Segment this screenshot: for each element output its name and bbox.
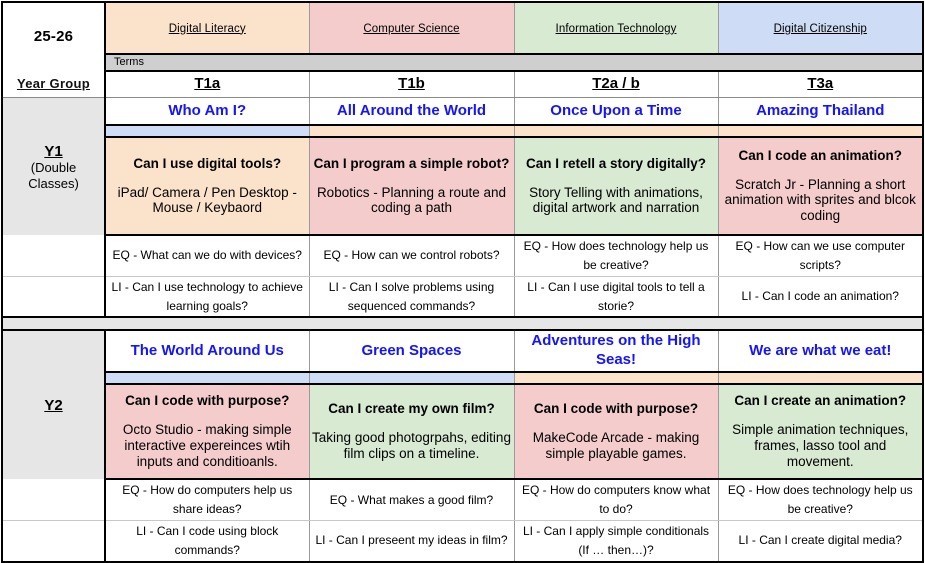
y2-content-row: Can I code with purpose? Octo Studio - m… xyxy=(2,384,923,479)
li-text: LI - Can I apply simple conditionals (If… xyxy=(523,524,709,557)
unit-title-cell: Green Spaces xyxy=(309,330,514,372)
unit-body: Story Telling with animations, digital a… xyxy=(517,185,716,217)
eq-text: EQ - How does technology help us be crea… xyxy=(524,239,709,272)
unit-title: We are what we eat! xyxy=(749,342,891,359)
strand-strip xyxy=(718,372,923,384)
term-cell-t1a: T1a xyxy=(105,71,309,98)
y1-eq-row: EQ - What can we do with devices? EQ - H… xyxy=(2,235,923,276)
unit-title: Amazing Thailand xyxy=(756,102,884,119)
unit-title: Who Am I? xyxy=(168,102,246,119)
y1-unit-title-row: Y1 (Double Classes) Who Am I? All Around… xyxy=(2,98,923,125)
li-cell: LI - Can I use digital tools to tell a s… xyxy=(514,276,718,317)
unit-question: Can I create my own film? xyxy=(312,401,512,417)
unit-body: MakeCode Arcade - making simple playable… xyxy=(517,430,716,462)
unit-title: Green Spaces xyxy=(361,342,461,359)
unit-content-cell: Can I code with purpose? MakeCode Arcade… xyxy=(514,384,718,479)
unit-question: Can I code an animation? xyxy=(721,148,921,164)
strand-header-digital-citizenship: Digital Citizenship xyxy=(718,2,923,54)
unit-title-cell: Once Upon a Time xyxy=(514,98,718,125)
unit-question: Can I use digital tools? xyxy=(108,156,307,172)
eq-text: EQ - How do computers help us share idea… xyxy=(122,483,292,516)
year-group-header-label: Year Group xyxy=(17,76,90,91)
li-cell: LI - Can I preseent my ideas in film? xyxy=(309,520,514,561)
terms-label: Terms xyxy=(114,56,144,68)
y2-eq-row: EQ - How do computers help us share idea… xyxy=(2,479,923,520)
li-text: LI - Can I create digital media? xyxy=(739,533,902,547)
y1-content-row: Can I use digital tools? iPad/ Camera / … xyxy=(2,137,923,235)
unit-content-cell: Can I retell a story digitally? Story Te… xyxy=(514,137,718,235)
y1-li-row: LI - Can I use technology to achieve lea… xyxy=(2,276,923,317)
unit-body: Scratch Jr - Planning a short animation … xyxy=(721,177,921,225)
unit-title: The World Around Us xyxy=(131,342,284,359)
academic-year-label: 25-26 xyxy=(34,28,73,45)
unit-title-cell: Amazing Thailand xyxy=(718,98,923,125)
unit-title-cell: We are what we eat! xyxy=(718,330,923,372)
eq-cell: EQ - How do computers know what to do? xyxy=(514,479,718,520)
unit-question: Can I create an animation? xyxy=(721,393,921,409)
eq-text: EQ - What makes a good film? xyxy=(330,493,493,507)
terms-band: Terms xyxy=(105,54,923,71)
li-cell: LI - Can I apply simple conditionals (If… xyxy=(514,520,718,561)
li-text: LI - Can I code using block commands? xyxy=(136,524,278,557)
unit-title: Once Upon a Time xyxy=(550,102,681,119)
eq-text: EQ - What can we do with devices? xyxy=(113,248,302,262)
section-separator xyxy=(2,317,923,330)
term-cell-t3a: T3a xyxy=(718,71,923,98)
strand-strip xyxy=(514,372,718,384)
unit-title-cell: Adventures on the High Seas! xyxy=(514,330,718,372)
li-text: LI - Can I use technology to achieve lea… xyxy=(112,280,303,313)
unit-title: All Around the World xyxy=(337,102,486,119)
eq-cell: EQ - What makes a good film? xyxy=(309,479,514,520)
year-cell-y2: Y2 xyxy=(2,330,105,479)
li-rowlabel-cell xyxy=(2,276,105,317)
strand-header-information-technology: Information Technology xyxy=(514,2,718,54)
eq-cell: EQ - How can we control robots? xyxy=(309,235,514,276)
li-text: LI - Can I code an animation? xyxy=(742,289,899,303)
y2-li-row: LI - Can I code using block commands? LI… xyxy=(2,520,923,561)
y2-strand-strip-row xyxy=(2,372,923,384)
eq-text: EQ - How can we use computer scripts? xyxy=(736,239,905,272)
eq-cell: EQ - How does technology help us be crea… xyxy=(514,235,718,276)
li-cell: LI - Can I code using block commands? xyxy=(105,520,309,561)
terms-band-row: Terms xyxy=(2,54,923,71)
academic-year-cell: 25-26 xyxy=(2,2,105,71)
eq-text: EQ - How do computers know what to do? xyxy=(522,483,710,516)
y1-strand-strip-row xyxy=(2,125,923,137)
li-cell: LI - Can I use technology to achieve lea… xyxy=(105,276,309,317)
strand-strip xyxy=(514,125,718,137)
y2-unit-title-row: Y2 The World Around Us Green Spaces Adve… xyxy=(2,330,923,372)
strand-header-digital-literacy: Digital Literacy xyxy=(105,2,309,54)
year-group-header-cell: Year Group xyxy=(2,71,105,98)
eq-rowlabel-cell xyxy=(2,235,105,276)
term-code-label: T1b xyxy=(398,75,425,92)
unit-body: Taking good photogrpahs, editing film cl… xyxy=(312,430,512,462)
eq-cell: EQ - How does technology help us be crea… xyxy=(718,479,923,520)
eq-cell: EQ - How can we use computer scripts? xyxy=(718,235,923,276)
eq-cell: EQ - How do computers help us share idea… xyxy=(105,479,309,520)
li-cell: LI - Can I create digital media? xyxy=(718,520,923,561)
unit-content-cell: Can I program a simple robot? Robotics -… xyxy=(309,137,514,235)
section-separator-row xyxy=(2,317,923,330)
unit-content-cell: Can I code with purpose? Octo Studio - m… xyxy=(105,384,309,479)
li-cell: LI - Can I code an animation? xyxy=(718,276,923,317)
term-cell-t2ab: T2a / b xyxy=(514,71,718,98)
term-code-row: Year Group T1a T1b T2a / b T3a xyxy=(2,71,923,98)
unit-body: Octo Studio - making simple interactive … xyxy=(108,422,307,470)
li-text: LI - Can I use digital tools to tell a s… xyxy=(527,280,704,313)
eq-rowlabel-cell xyxy=(2,479,105,520)
curriculum-overview-sheet: 25-26 Digital Literacy Computer Science … xyxy=(0,1,925,554)
strand-header-row: 25-26 Digital Literacy Computer Science … xyxy=(2,2,923,54)
li-rowlabel-cell xyxy=(2,520,105,561)
term-code-label: T1a xyxy=(194,75,220,92)
unit-content-cell: Can I create my own film? Taking good ph… xyxy=(309,384,514,479)
strand-strip xyxy=(105,125,309,137)
eq-text: EQ - How does technology help us be crea… xyxy=(728,483,913,516)
unit-title: Adventures on the High Seas! xyxy=(531,332,700,368)
li-text: LI - Can I solve problems using sequence… xyxy=(329,280,494,313)
curriculum-grid: 25-26 Digital Literacy Computer Science … xyxy=(1,1,924,563)
unit-content-cell: Can I create an animation? Simple animat… xyxy=(718,384,923,479)
eq-text: EQ - How can we control robots? xyxy=(323,248,499,262)
unit-title-cell: All Around the World xyxy=(309,98,514,125)
strand-strip xyxy=(309,372,514,384)
unit-body: iPad/ Camera / Pen Desktop - Mouse / Key… xyxy=(108,185,307,217)
unit-content-cell: Can I code an animation? Scratch Jr - Pl… xyxy=(718,137,923,235)
term-code-label: T3a xyxy=(807,75,833,92)
unit-question: Can I code with purpose? xyxy=(108,393,307,409)
eq-cell: EQ - What can we do with devices? xyxy=(105,235,309,276)
unit-title-cell: The World Around Us xyxy=(105,330,309,372)
term-cell-t1b: T1b xyxy=(309,71,514,98)
unit-body: Simple animation techniques, frames, las… xyxy=(721,422,921,470)
term-code-label: T2a / b xyxy=(592,75,640,92)
unit-question: Can I code with purpose? xyxy=(517,401,716,417)
year-label: Y2 xyxy=(5,397,102,415)
strand-header-computer-science: Computer Science xyxy=(309,2,514,54)
unit-question: Can I retell a story digitally? xyxy=(517,156,716,172)
year-cell-y1: Y1 (Double Classes) xyxy=(2,98,105,235)
strand-strip xyxy=(718,125,923,137)
year-sublabel: (Double Classes) xyxy=(5,160,102,191)
strand-strip xyxy=(309,125,514,137)
year-label: Y1 xyxy=(5,143,102,161)
strand-strip xyxy=(105,372,309,384)
li-text: LI - Can I preseent my ideas in film? xyxy=(315,533,507,547)
unit-body: Robotics - Planning a route and coding a… xyxy=(312,185,512,217)
unit-question: Can I program a simple robot? xyxy=(312,156,512,172)
unit-content-cell: Can I use digital tools? iPad/ Camera / … xyxy=(105,137,309,235)
li-cell: LI - Can I solve problems using sequence… xyxy=(309,276,514,317)
unit-title-cell: Who Am I? xyxy=(105,98,309,125)
